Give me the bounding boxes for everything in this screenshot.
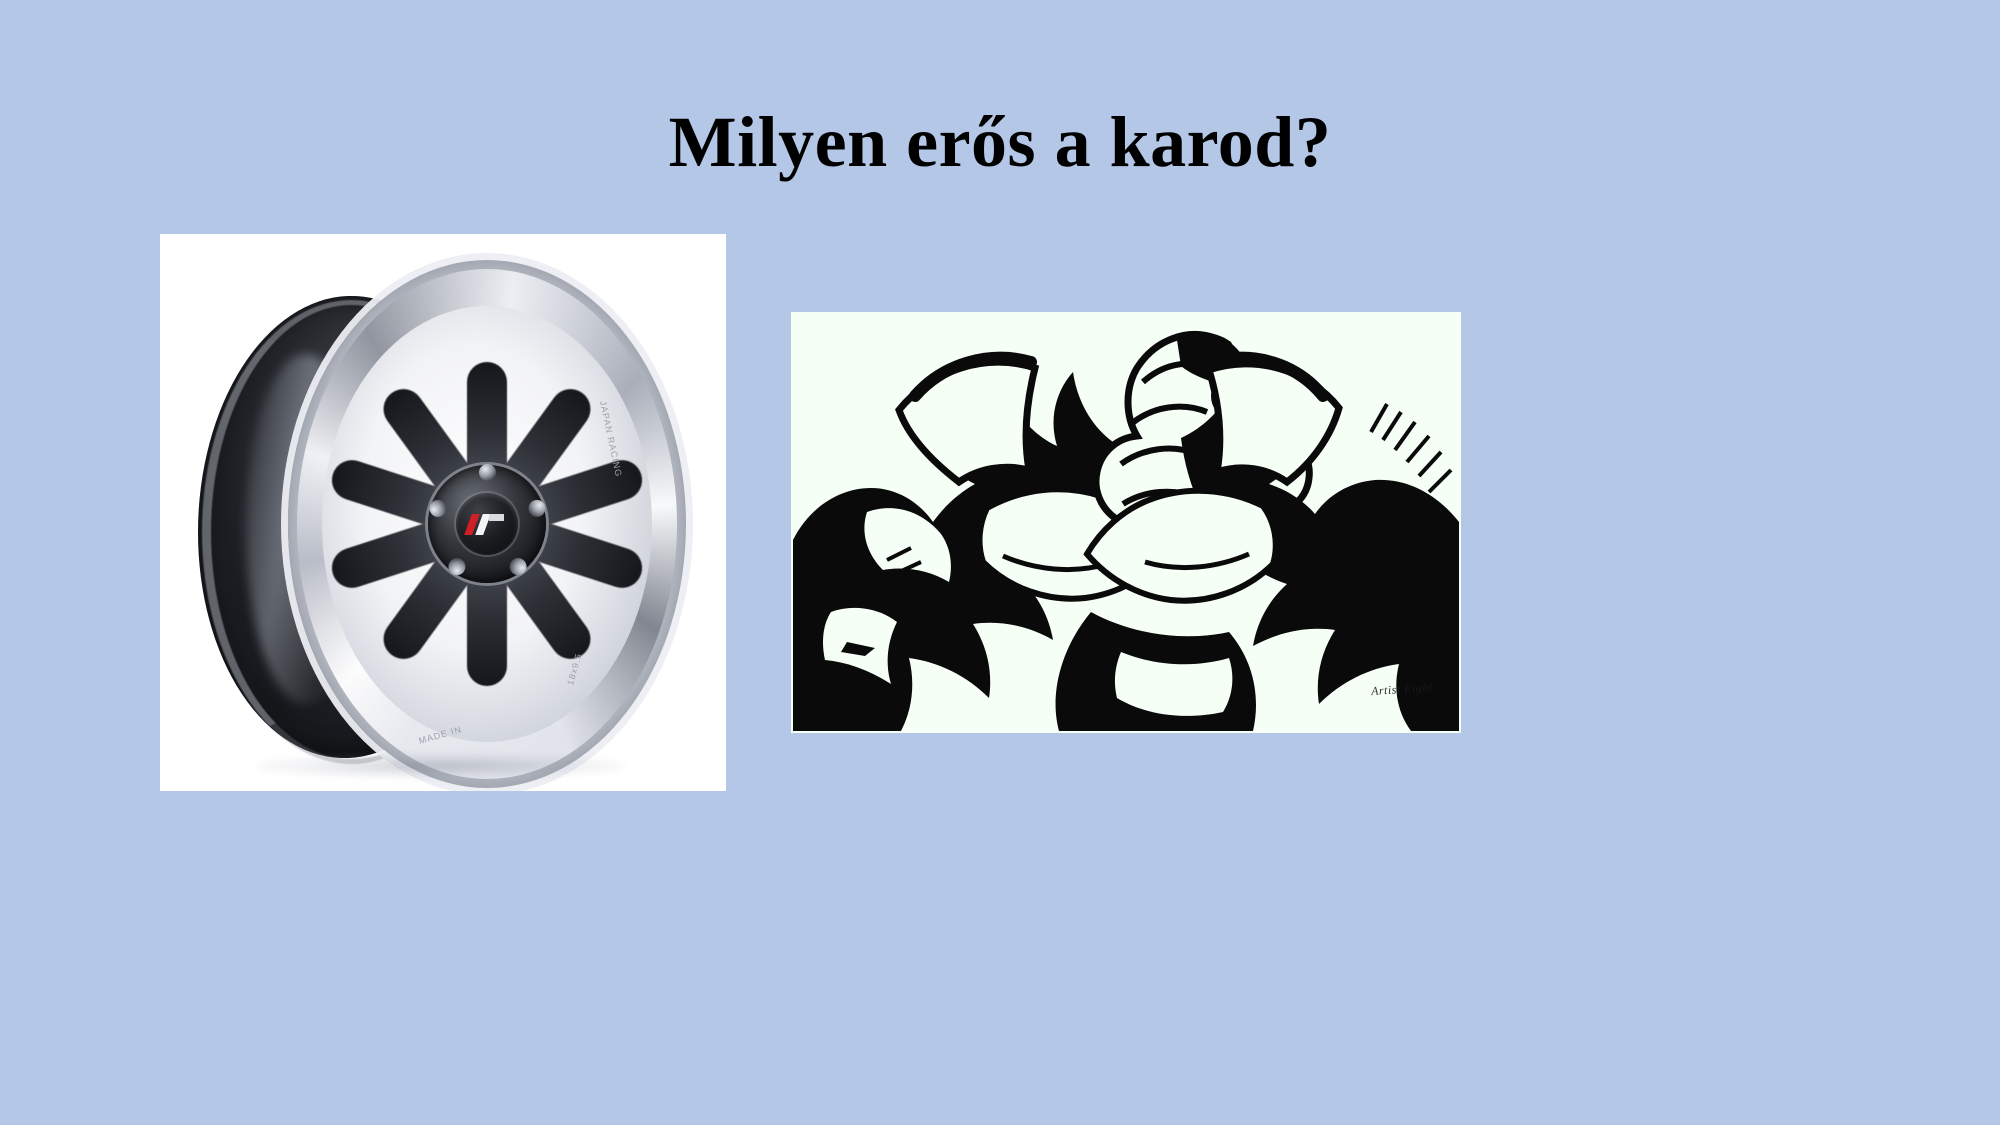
wheel-drop-shadow <box>256 753 626 779</box>
wheel-lug-nut <box>445 554 469 578</box>
arm-wrestling-illustration[interactable]: Artist Fight <box>791 312 1461 733</box>
arm-wrestling-artwork <box>791 312 1461 733</box>
wheel-face-inner <box>322 306 652 742</box>
wheel-lug-nut <box>526 497 547 518</box>
slide-canvas: Milyen erős a karod? <box>0 0 2000 1125</box>
wheel-illustration: JAPAN RACING 18x9.5 MADE IN <box>160 234 726 791</box>
page-title: Milyen erős a karod? <box>0 106 2000 178</box>
wheel-lug-nut <box>427 497 448 518</box>
wheel-lug-nut <box>479 464 496 481</box>
wheel-face <box>288 260 686 788</box>
jr-brand-logo-icon <box>467 512 507 536</box>
wheel-center-cap <box>456 493 518 555</box>
wheel-lug-nut <box>506 554 530 578</box>
logo-grey-bar <box>489 514 504 521</box>
alloy-wheel-photo[interactable]: JAPAN RACING 18x9.5 MADE IN <box>160 234 726 791</box>
